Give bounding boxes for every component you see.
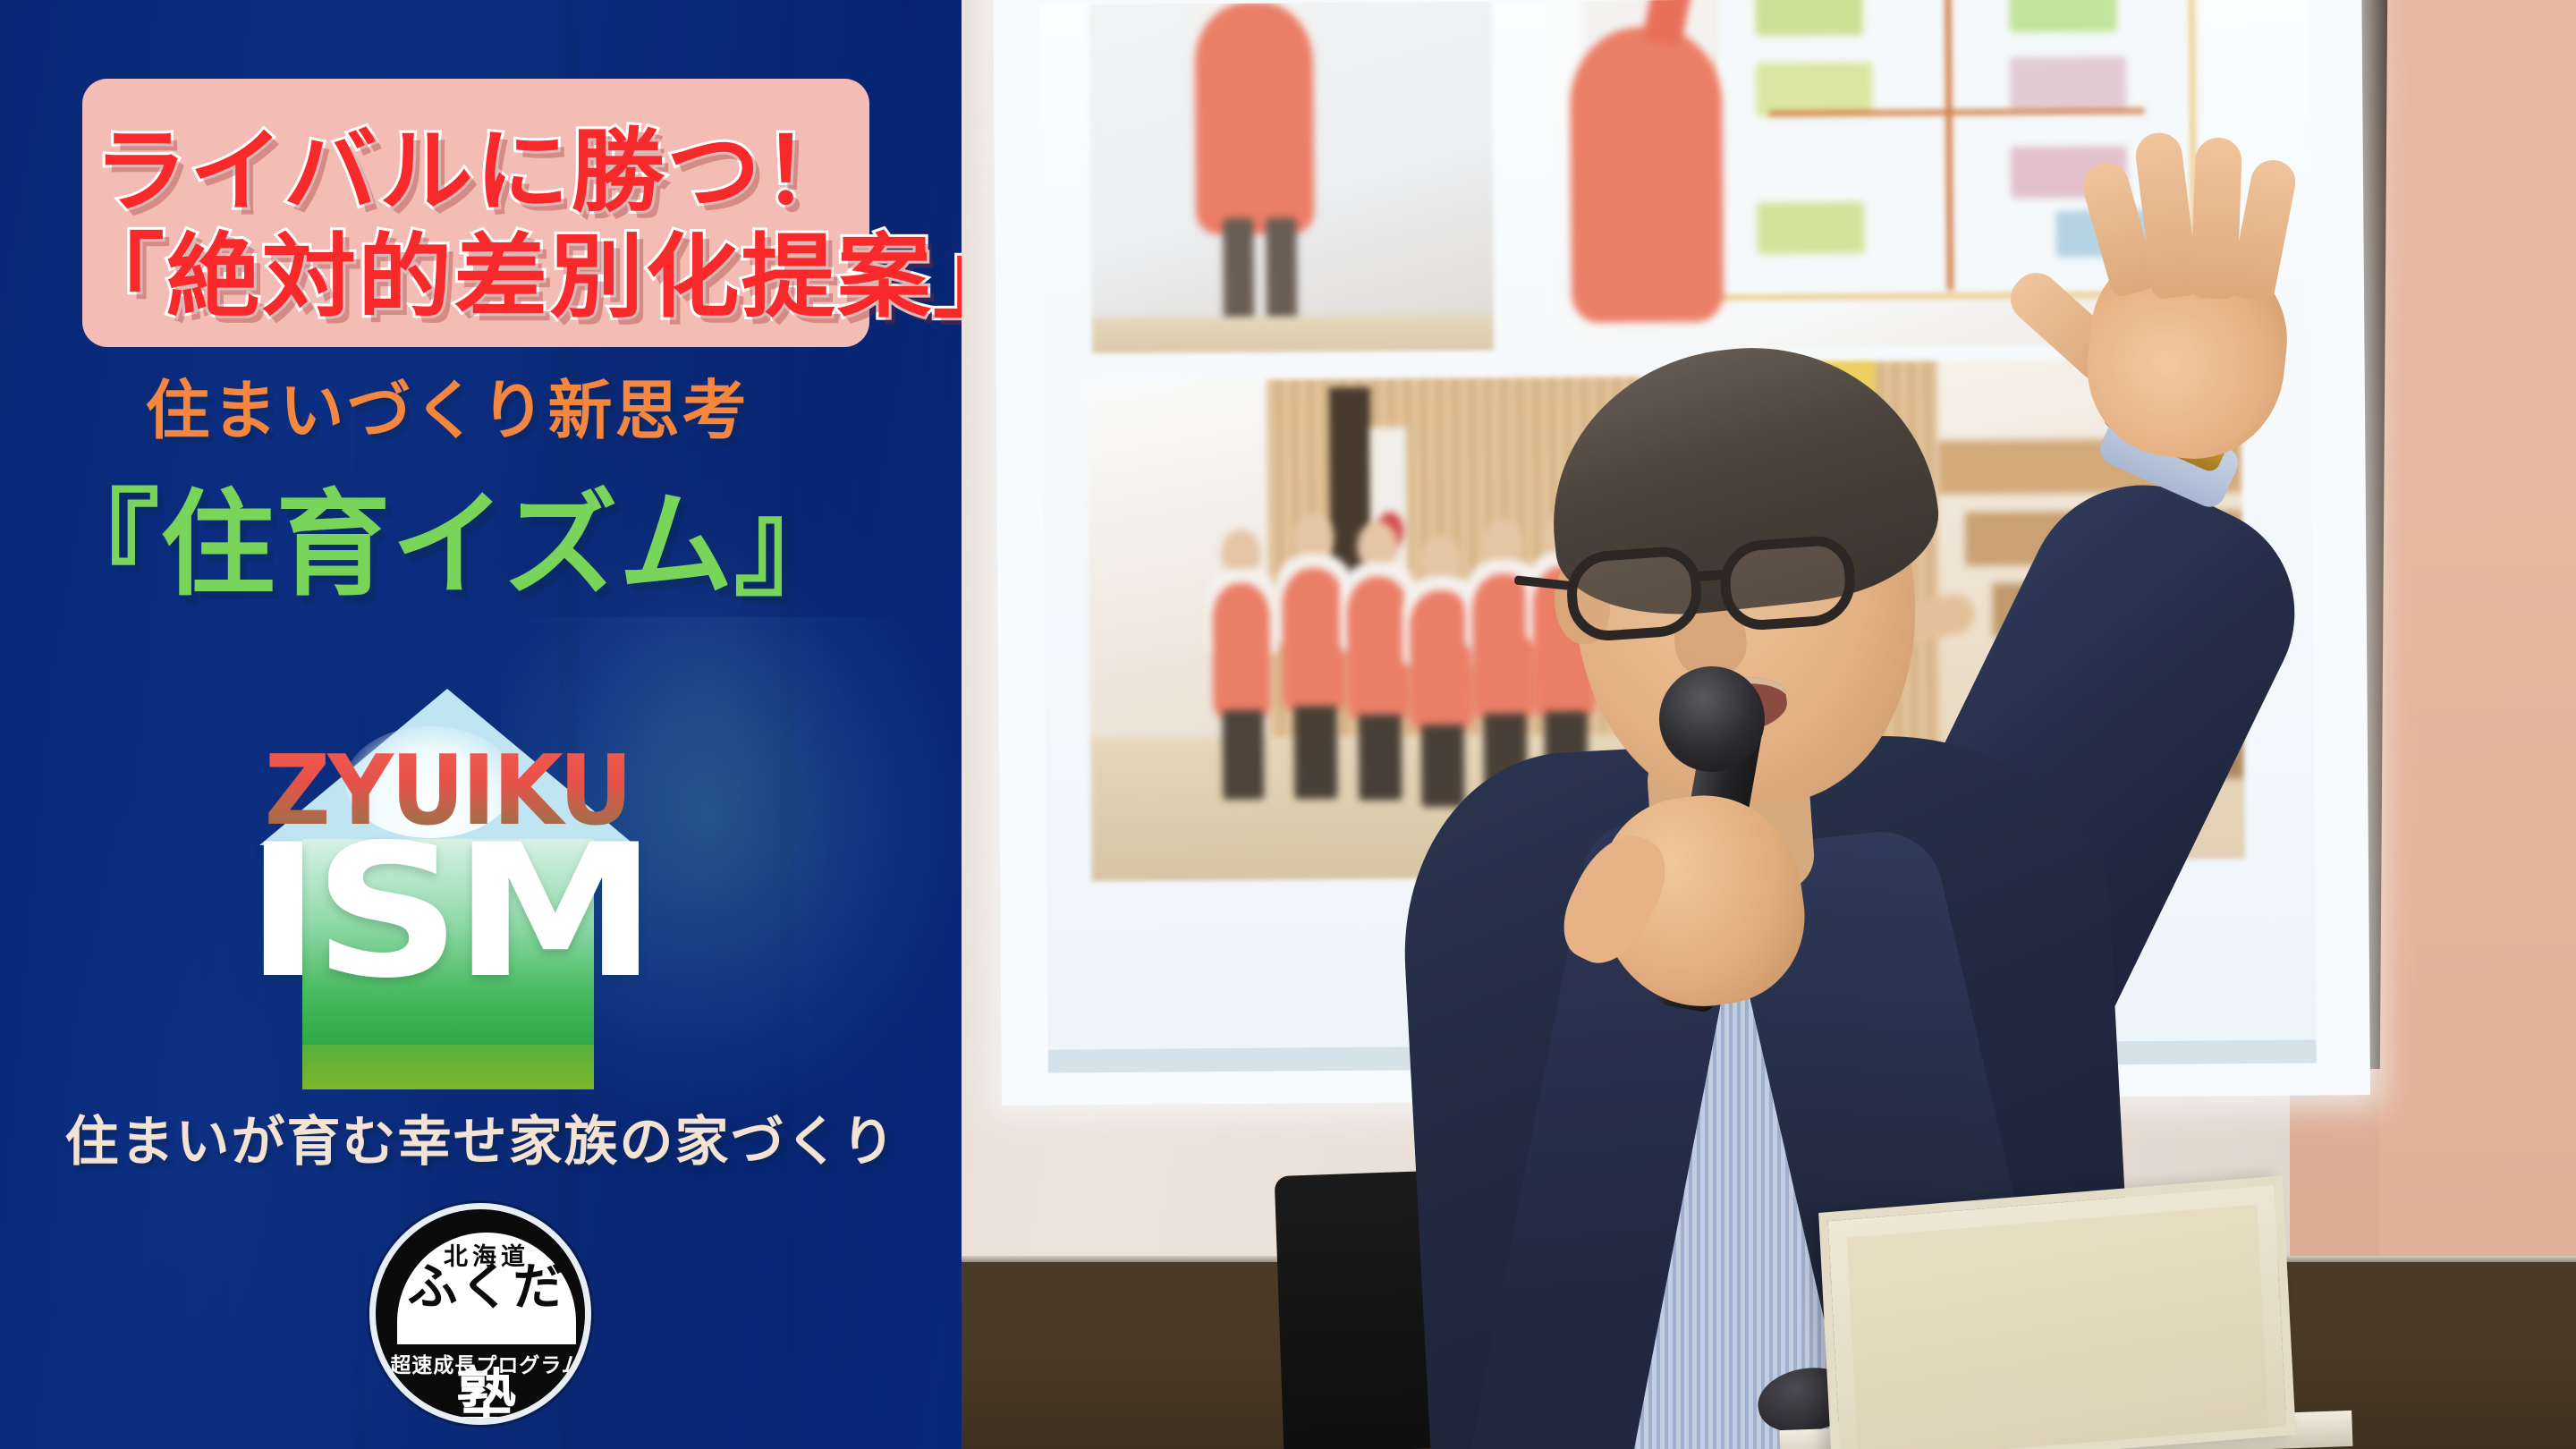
subtitle-green: 『住育イズム』: [0, 452, 894, 617]
badge-name-label: ふくだ: [397, 1263, 576, 1313]
subtitle-orange: 住まいづくり新思考: [0, 358, 894, 452]
tagline: 住まいが育む幸せ家族の家づくり: [0, 1098, 962, 1176]
headline-line-2: 「絶対的差別化提案」: [71, 204, 881, 335]
glasses-temple: [1514, 575, 1576, 590]
badge-school-label: 塾: [376, 1368, 591, 1425]
fukuda-juku-badge: 北海道 ふくだ 超速成長プログラム 塾: [369, 1203, 591, 1425]
poster-canvas: ライバルに勝つ！ 「絶対的差別化提案」 住まいづくり新思考 『住育イズム』 ZY…: [0, 0, 2576, 1449]
logo-wordmark-bottom: ISM: [237, 821, 657, 1004]
zyuiku-ism-logo: ZYUIKU ISM: [259, 689, 635, 1100]
logo-house-base: [302, 1045, 594, 1089]
lens-left: [1564, 545, 1705, 643]
headline-card: ライバルに勝つ！ 「絶対的差別化提案」: [82, 79, 869, 347]
title-panel: ライバルに勝つ！ 「絶対的差別化提案」 住まいづくり新思考 『住育イズム』 ZY…: [0, 0, 962, 1449]
badge-white-dome: 北海道 ふくだ: [397, 1233, 576, 1344]
laptop-screen-back: [1818, 1175, 2296, 1449]
lens-right: [1717, 534, 1858, 632]
